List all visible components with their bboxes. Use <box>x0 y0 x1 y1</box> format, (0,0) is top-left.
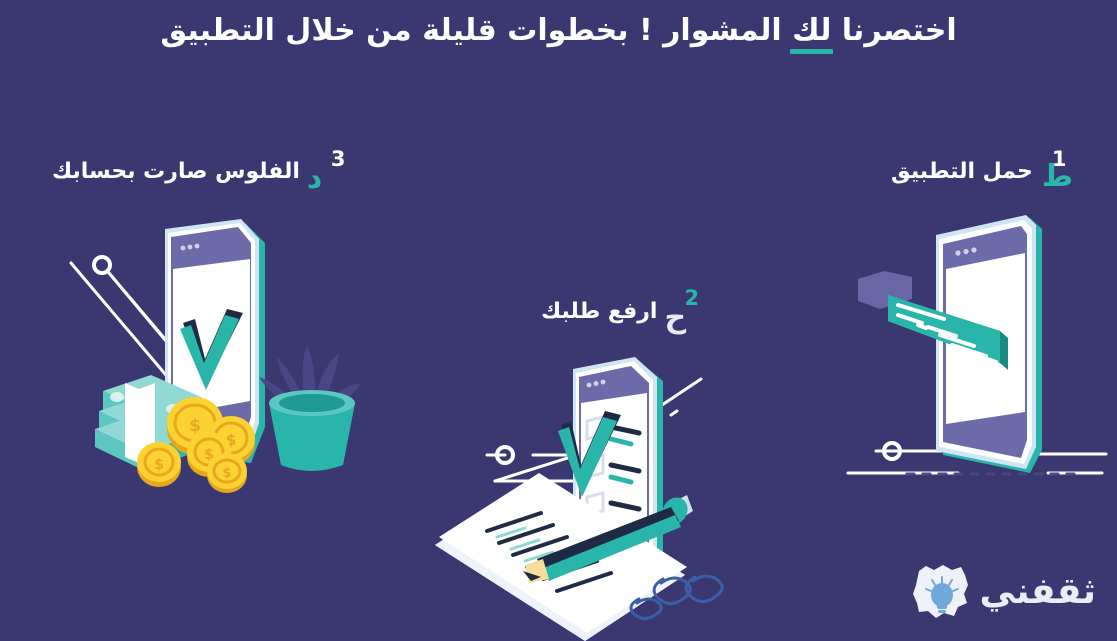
step-3-marker: 3 د <box>307 152 353 192</box>
step-3-number: 3 <box>331 149 346 170</box>
step-3-glyph: د <box>307 164 322 194</box>
title-part-2: المشوار ! بخطوات قليلة من خلال التطبيق <box>160 13 781 48</box>
potted-plant <box>259 345 361 471</box>
speech-bubble-lightbulb-icon <box>910 561 972 623</box>
step-1-illustration <box>840 205 1110 495</box>
svg-text:$: $ <box>189 416 201 436</box>
step-2-marker: 2 ح <box>664 292 710 332</box>
step-1-marker: 1 ط <box>1040 152 1086 192</box>
svg-text:$: $ <box>154 457 164 473</box>
page-header: اختصرنا لك المشوار ! بخطوات قليلة من خلا… <box>0 0 1117 62</box>
step-3-text: الفلوس صارت بحسابك <box>52 159 300 184</box>
step-1-label: 1 ط حمل التطبيق <box>891 152 1086 192</box>
svg-text:$: $ <box>222 466 231 481</box>
step-2-label: 2 ح ارفع طلبك <box>541 292 710 332</box>
brand-logo[interactable]: ثقفني <box>886 552 1096 632</box>
infographic-canvas: اختصرنا لك المشوار ! بخطوات قليلة من خلا… <box>0 0 1117 641</box>
title-part-1: اختصرنا <box>842 13 957 48</box>
step-3-label: 3 د الفلوس صارت بحسابك <box>52 152 353 192</box>
title-underlined-word: لك <box>792 15 831 47</box>
step-2-text: ارفع طلبك <box>541 299 657 324</box>
step-2-illustration <box>425 355 755 641</box>
phone-1-ground-shadow <box>905 468 1085 480</box>
step-3-illustration: $ $ $ $ <box>55 215 385 500</box>
decor-circle-3 <box>94 257 110 273</box>
step-1-glyph: ط <box>1042 162 1073 192</box>
step-2-number: 2 <box>684 288 699 309</box>
step-2-glyph: ح <box>664 303 686 333</box>
page-title: اختصرنا لك المشوار ! بخطوات قليلة من خلا… <box>160 15 956 47</box>
logo-text: ثقفني <box>980 574 1096 610</box>
step-1-text: حمل التطبيق <box>891 159 1033 184</box>
